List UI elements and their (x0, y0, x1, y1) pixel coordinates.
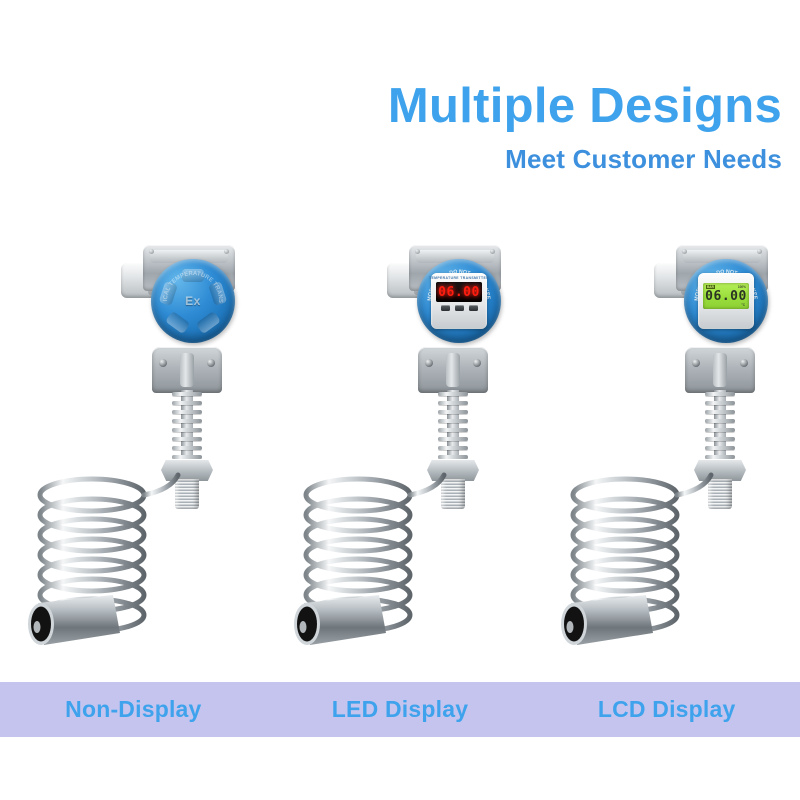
fin (172, 419, 202, 423)
label-cell-led-display[interactable]: LED Display (267, 682, 534, 737)
fin (438, 455, 468, 459)
led-screen: 06.00 (436, 282, 482, 302)
button-row[interactable] (441, 305, 478, 311)
fin (438, 401, 468, 405)
display-faceplate: TEMPERATURE TRANSMITTER 06.00 (431, 273, 487, 329)
cooling-fin-neck (438, 390, 468, 462)
config-button-2[interactable] (455, 305, 464, 311)
housing-saddle (685, 347, 755, 393)
fin (438, 428, 468, 432)
bolt-icon (207, 359, 215, 367)
fin (172, 428, 202, 432)
fin (172, 392, 202, 396)
probe-tip (274, 593, 394, 653)
fin (438, 392, 468, 396)
fin (705, 437, 735, 441)
label-led-display: LED Display (332, 696, 468, 723)
display-faceplate: . BAR 100% 06.00 °C (698, 273, 754, 329)
fin (172, 446, 202, 450)
cooling-fin-neck (705, 390, 735, 462)
fin (438, 410, 468, 414)
lcd-reading: 06.00 (705, 290, 747, 303)
probe-tip (541, 593, 661, 653)
screw-icon (757, 249, 762, 254)
label-cell-non-display[interactable]: Non-Display (0, 682, 267, 737)
cooling-fin-neck (172, 390, 202, 462)
screw-icon (149, 249, 154, 254)
page-title: Multiple Designs (0, 82, 782, 132)
config-button-1[interactable] (441, 305, 450, 311)
screw-icon (682, 249, 687, 254)
heading-block: Multiple Designs Meet Customer Needs (0, 0, 800, 173)
fin (705, 446, 735, 450)
fin (172, 401, 202, 405)
fin (705, 455, 735, 459)
ex-marking: Ex (185, 294, 201, 308)
lcd-tag-percent: 100% (738, 285, 746, 289)
bolt-icon (473, 359, 481, 367)
blue-cover[interactable]: ELECTRICAL TEMPERATURE TRANSMITTER Ex (151, 259, 235, 343)
fin (705, 410, 735, 414)
bolt-icon (159, 359, 167, 367)
fin (438, 446, 468, 450)
lcd-tag-bar: BAR (706, 285, 715, 289)
blue-cover[interactable]: EXPLOSIVE ATMOSPHERE - DO NOT OPEN - KEE… (417, 259, 501, 343)
lcd-tag-unit: °C (741, 303, 745, 307)
transmitter-housing: ELECTRICAL TEMPERATURE TRANSMITTER Ex (131, 245, 243, 357)
bolt-icon (692, 359, 700, 367)
housing-saddle (152, 347, 222, 393)
screw-icon (490, 249, 495, 254)
fin (172, 410, 202, 414)
screw-icon (224, 249, 229, 254)
product-non-display[interactable]: ELECTRICAL TEMPERATURE TRANSMITTER Ex (0, 235, 266, 685)
fin (438, 419, 468, 423)
bolt-icon (740, 359, 748, 367)
bolt-icon (425, 359, 433, 367)
fin (172, 455, 202, 459)
product-showcase: ELECTRICAL TEMPERATURE TRANSMITTER Ex (0, 235, 800, 685)
label-lcd-display: LCD Display (598, 696, 736, 723)
product-lcd-display[interactable]: EXPLOSIVE ATMOSPHERE - DO NOT OPEN - KEE… (533, 235, 799, 685)
config-button-3[interactable] (469, 305, 478, 311)
housing-saddle (418, 347, 488, 393)
fin (438, 437, 468, 441)
fin (705, 419, 735, 423)
page-subtitle: Meet Customer Needs (0, 146, 782, 173)
fin (705, 392, 735, 396)
product-led-display[interactable]: EXPLOSIVE ATMOSPHERE - DO NOT OPEN - KEE… (266, 235, 532, 685)
fin (705, 401, 735, 405)
screw-icon (415, 249, 420, 254)
transmitter-housing: EXPLOSIVE ATMOSPHERE - DO NOT OPEN - KEE… (397, 245, 509, 357)
label-non-display: Non-Display (65, 696, 201, 723)
lcd-screen: BAR 100% 06.00 °C (703, 283, 749, 309)
fin (172, 437, 202, 441)
label-cell-lcd-display[interactable]: LCD Display (533, 682, 800, 737)
transmitter-housing: EXPLOSIVE ATMOSPHERE - DO NOT OPEN - KEE… (664, 245, 776, 357)
led-reading: 06.00 (438, 286, 480, 299)
blue-cover[interactable]: EXPLOSIVE ATMOSPHERE - DO NOT OPEN - KEE… (684, 259, 768, 343)
brand-label: TEMPERATURE TRANSMITTER (429, 276, 489, 280)
fin (705, 428, 735, 432)
probe-tip (8, 593, 128, 653)
label-bar: Non-Display LED Display LCD Display (0, 682, 800, 737)
